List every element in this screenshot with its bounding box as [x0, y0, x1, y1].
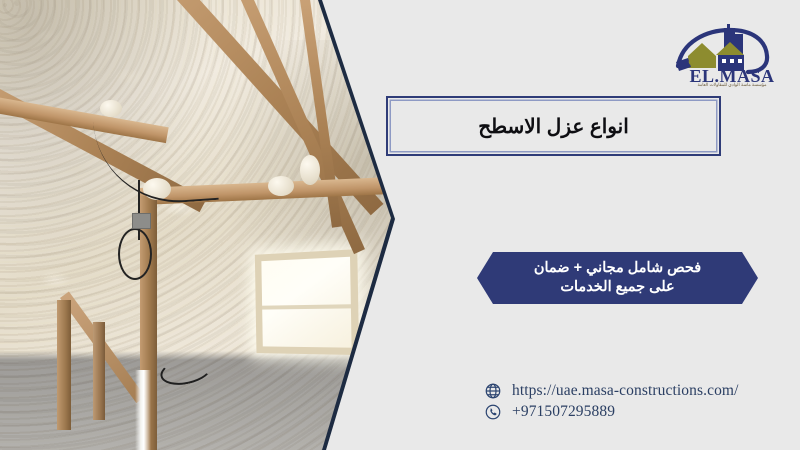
house-building-logo-icon: EL.MASA — [672, 22, 792, 84]
foam-blob — [100, 100, 122, 117]
website-url[interactable]: https://uae.masa-constructions.com/ — [512, 382, 738, 400]
white-wire — [135, 370, 151, 450]
phone-icon — [484, 403, 502, 421]
attic-insulation-photo — [0, 0, 395, 450]
junction-box — [132, 213, 151, 229]
offer-badge-line-2: على جميع الخدمات — [560, 279, 674, 296]
company-logo: EL.MASA مؤسسة ماسة الوادي للمقاولات العا… — [672, 22, 792, 98]
page-title: انواع عزل الاسطح — [478, 114, 629, 139]
phone-number[interactable]: +971507295889 — [512, 403, 615, 421]
poster-canvas: EL.MASA مؤسسة ماسة الوادي للمقاولات العا… — [0, 0, 800, 450]
contact-row-website[interactable]: https://uae.masa-constructions.com/ — [484, 382, 784, 400]
offer-badge-line-1: فحص شامل مجاني + ضمان — [534, 260, 701, 277]
cable-loop — [118, 228, 152, 280]
foam-blob — [300, 155, 320, 185]
logo-tagline: مؤسسة ماسة الوادي للمقاولات العامة — [672, 82, 792, 88]
contact-block: https://uae.masa-constructions.com/ +971… — [484, 382, 784, 421]
offer-badge: فحص شامل مجاني + ضمان على جميع الخدمات — [477, 252, 758, 304]
vertical-post — [93, 322, 105, 420]
contact-row-phone[interactable]: +971507295889 — [484, 403, 784, 421]
skylight-window — [255, 249, 359, 355]
vertical-post — [57, 300, 71, 430]
foam-blob — [268, 176, 294, 196]
photo-image — [0, 0, 391, 450]
headline-box: انواع عزل الاسطح — [386, 96, 721, 156]
globe-icon — [484, 382, 502, 400]
